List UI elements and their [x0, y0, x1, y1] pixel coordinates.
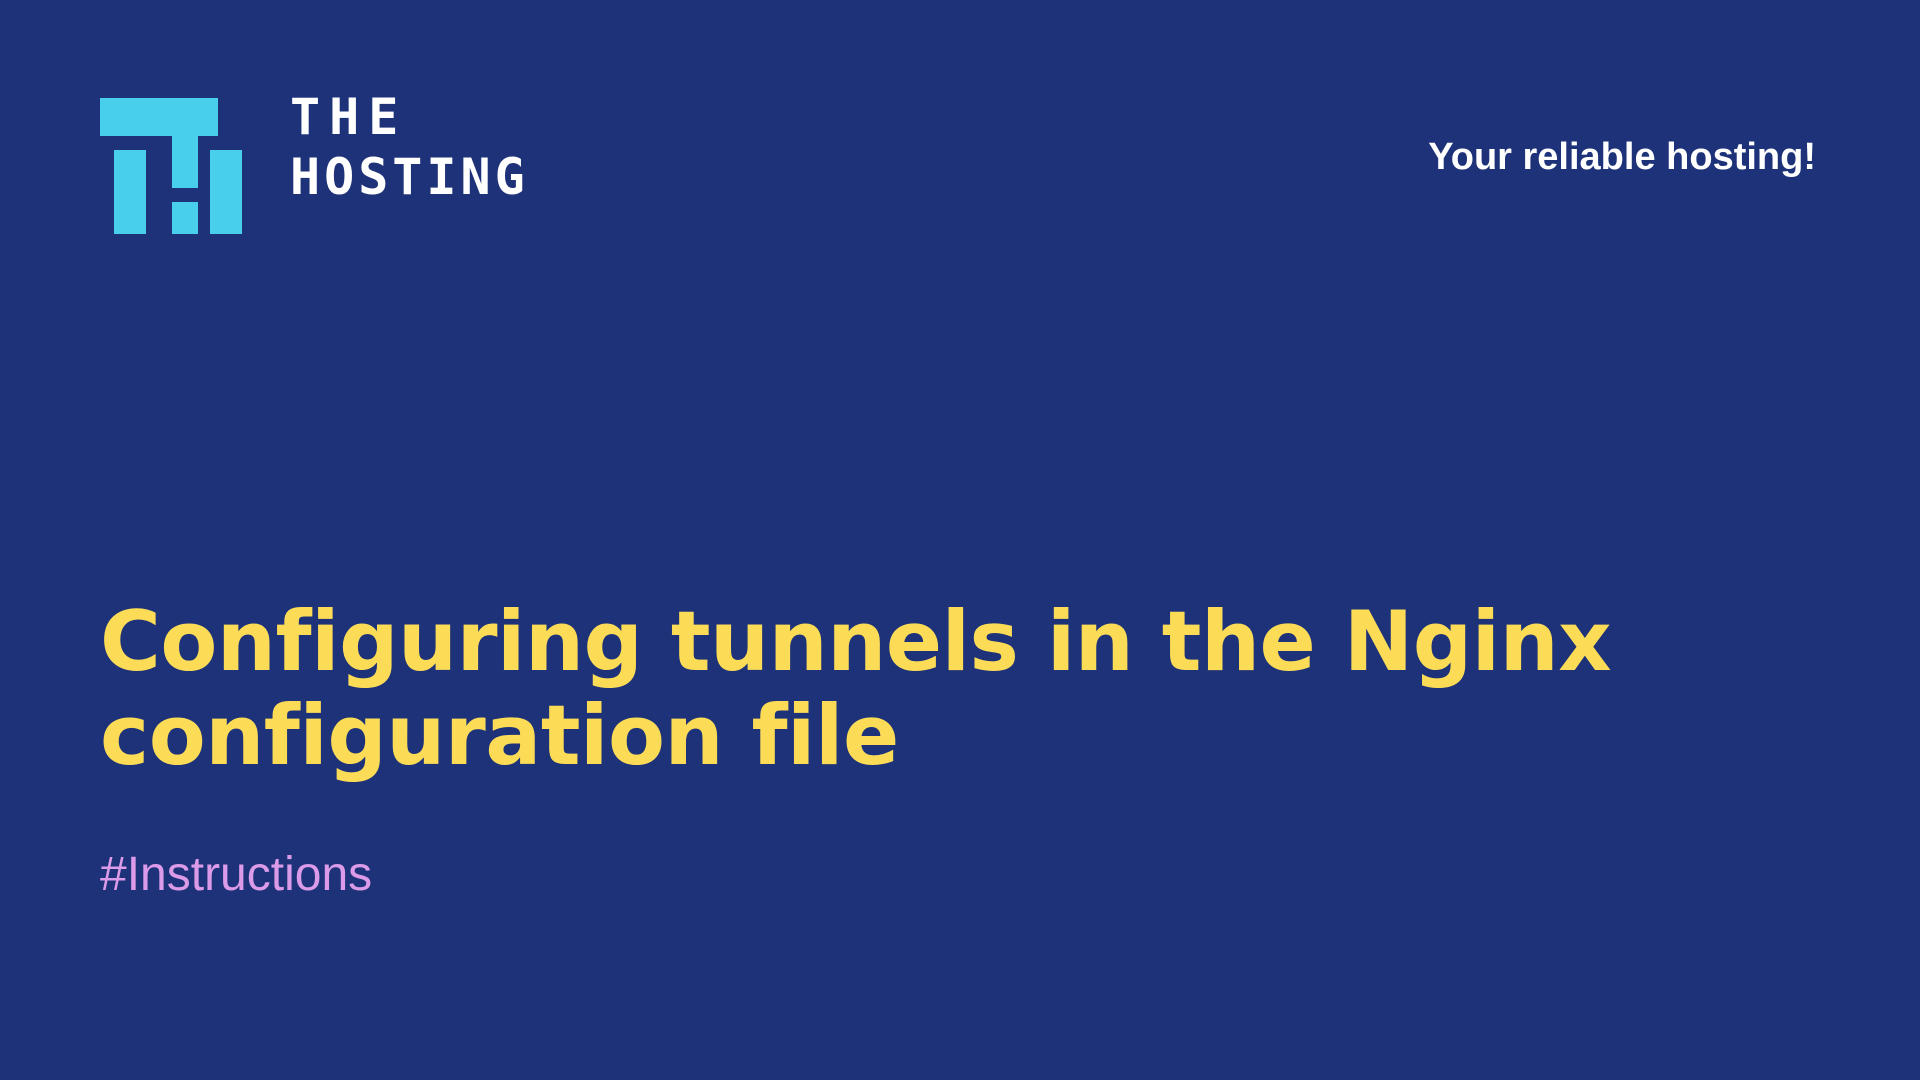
brand-wordmark: THE HOSTING	[290, 94, 529, 201]
th-monogram-logo-icon	[100, 98, 242, 234]
page-header: THE HOSTING Your reliable hosting!	[0, 0, 1920, 260]
tagline: Your reliable hosting!	[1428, 138, 1816, 176]
brand-lockup[interactable]: THE HOSTING	[100, 98, 529, 234]
page-title: Configuring tunnels in the Nginx configu…	[100, 595, 1740, 783]
wordmark-line-the: THE	[290, 94, 529, 142]
category-tag[interactable]: #Instructions	[100, 851, 1800, 899]
wordmark-line-hosting: HOSTING	[290, 154, 529, 202]
main-content: Configuring tunnels in the Nginx configu…	[100, 595, 1800, 899]
